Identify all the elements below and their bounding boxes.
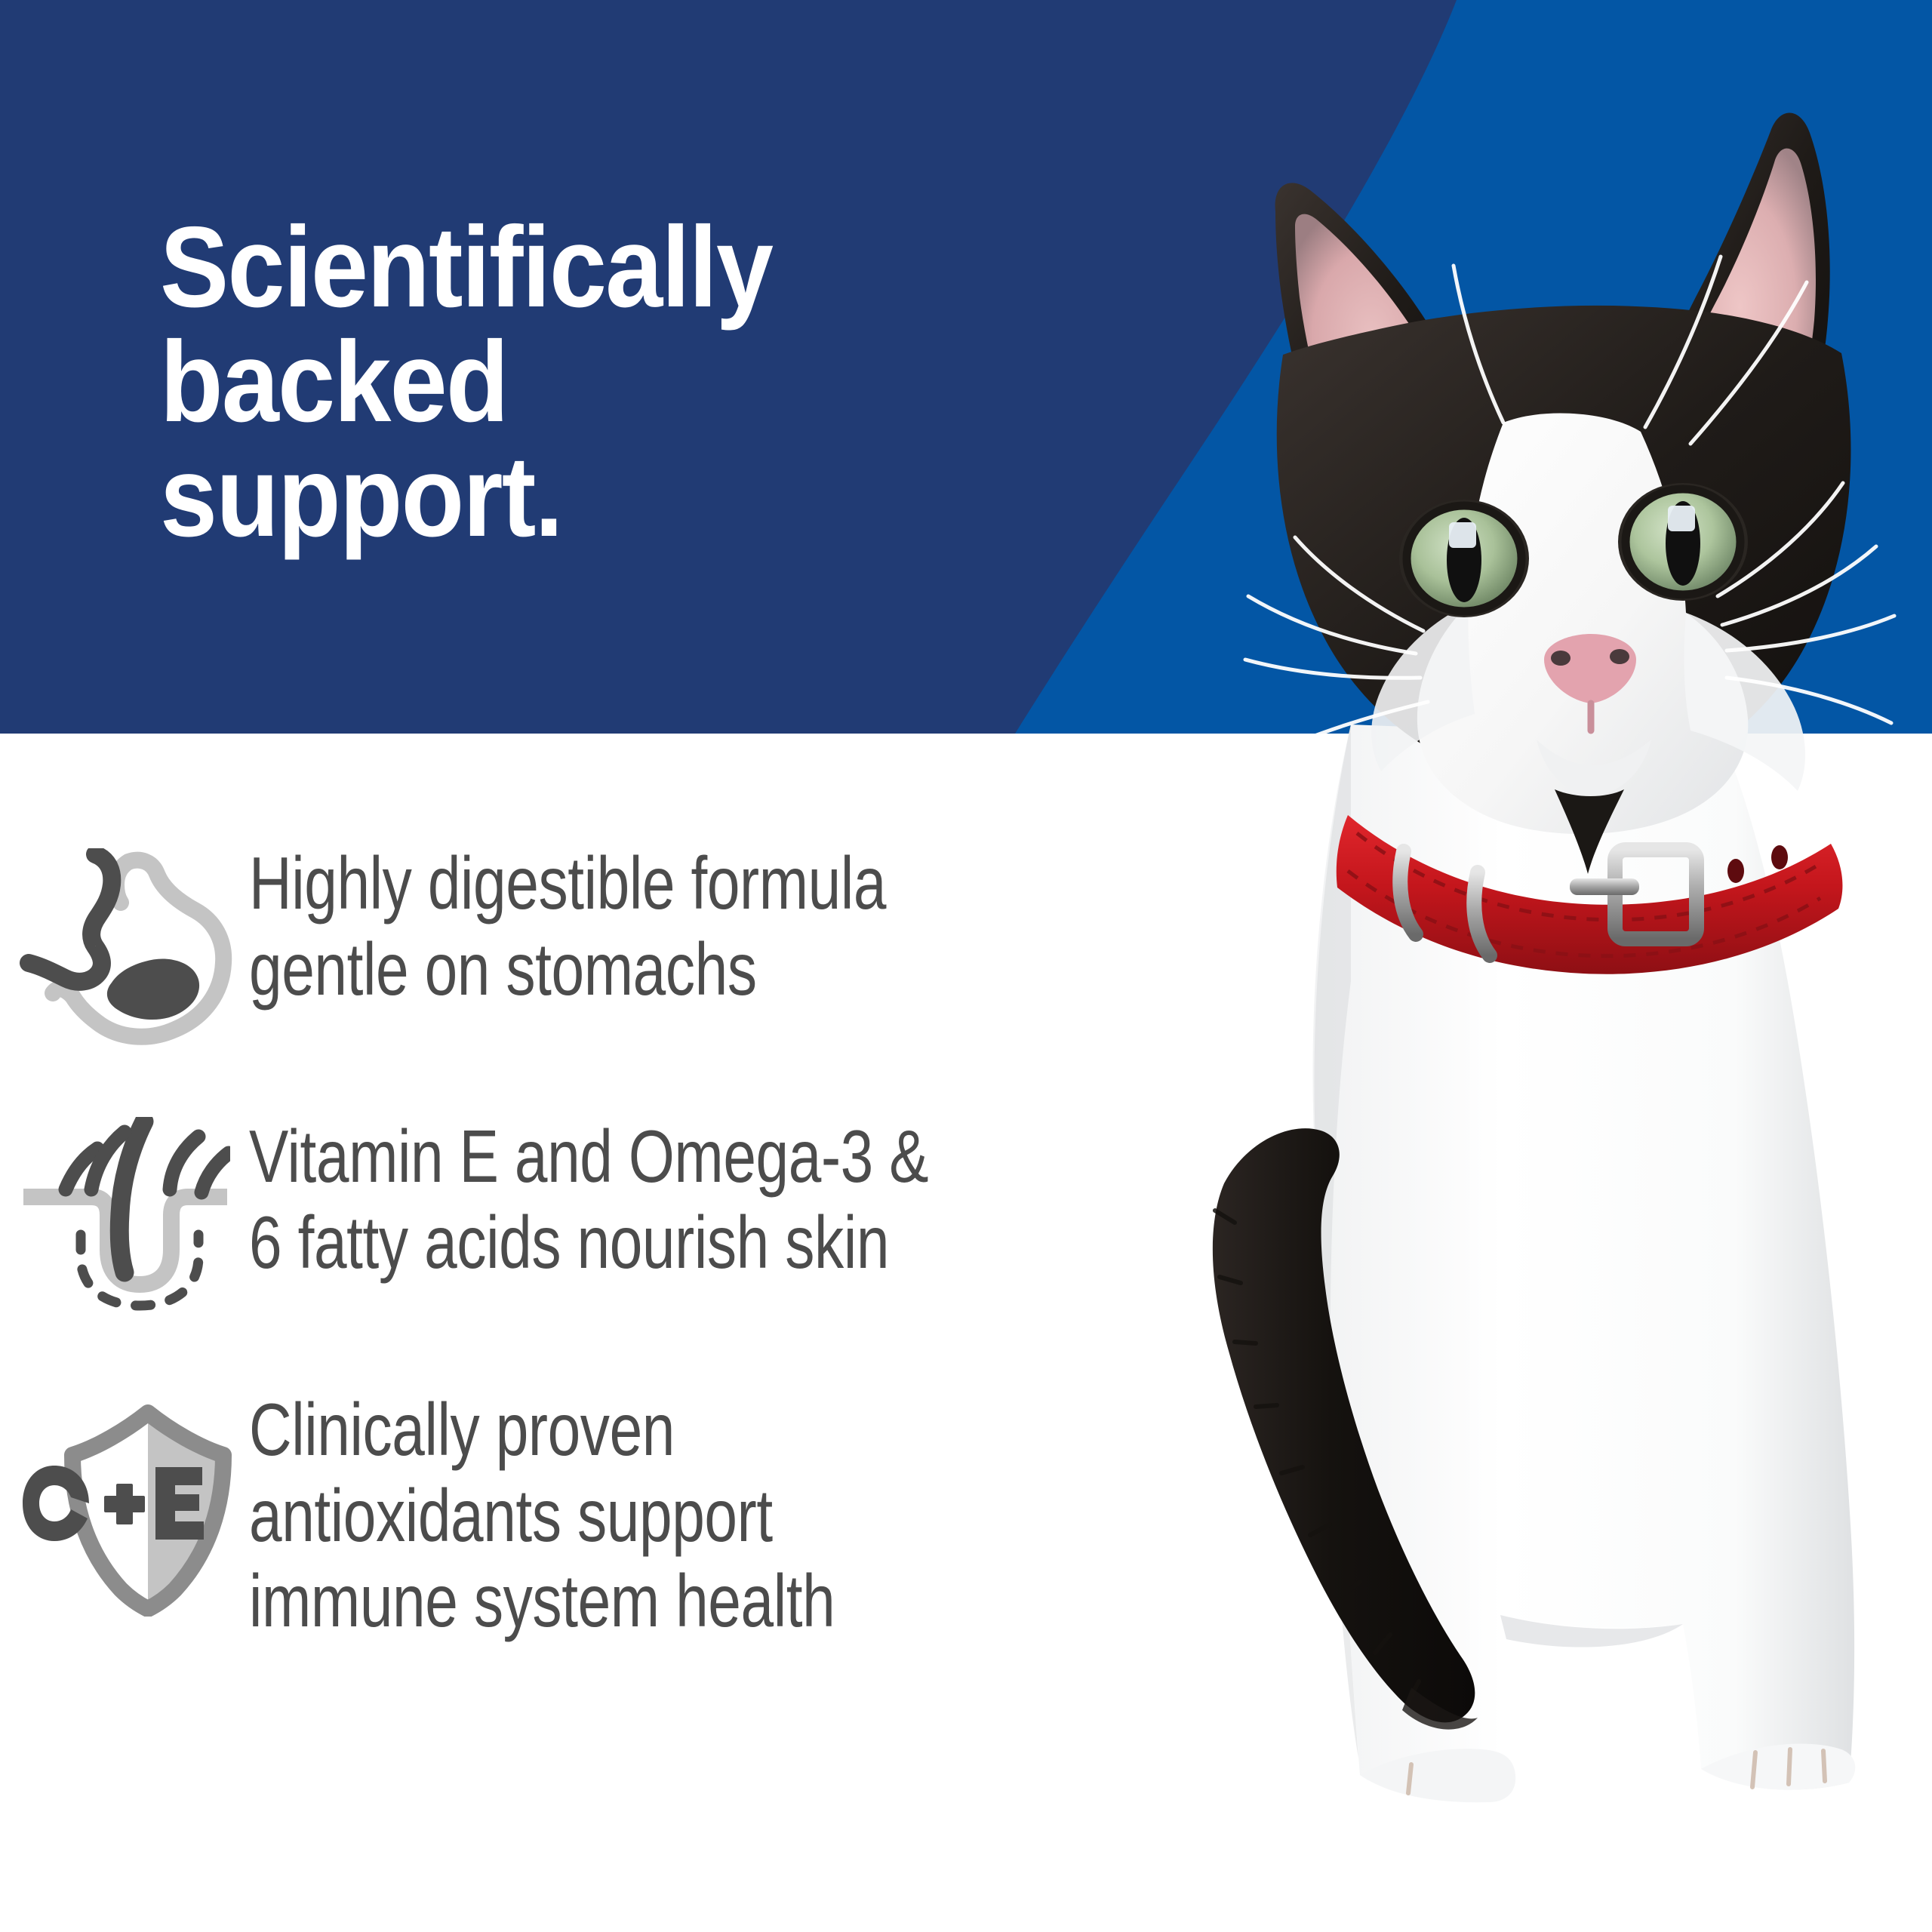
feature-3-line-1: Clinically proven (249, 1387, 1028, 1473)
red-collar (1337, 815, 1843, 974)
kitten-body (1312, 724, 1854, 1802)
shield-label (23, 1466, 204, 1541)
collar-buckle (1400, 850, 1697, 955)
feature-1-line-1: Highly digestible formula (249, 841, 1028, 927)
feature-item-digestion: Highly digestible formula gentle on stom… (0, 838, 1223, 1064)
headline-line-2: backed (160, 325, 975, 439)
stomach-icon (0, 838, 249, 1064)
hair-follicle-icon (0, 1111, 249, 1337)
feature-2-line-1: Vitamin E and Omega-3 & (249, 1114, 1028, 1200)
feature-text-digestion: Highly digestible formula gentle on stom… (249, 838, 1028, 1012)
feature-2-line-2: 6 fatty acids nourish skin (249, 1200, 1028, 1286)
feature-1-line-2: gentle on stomachs (249, 927, 1028, 1013)
page-title: Scientifically backed support. (160, 210, 975, 554)
kitten-paws (1360, 1743, 1855, 1802)
headline-line-1: Scientifically (160, 210, 975, 325)
feature-text-immune: Clinically proven antioxidants support i… (249, 1384, 1028, 1644)
shield-c-plus-e-icon (0, 1384, 249, 1611)
promo-canvas: Scientifically backed support. (0, 0, 1932, 1932)
feature-list: Highly digestible formula gentle on stom… (0, 838, 1223, 1691)
feature-3-line-2: antioxidants support (249, 1473, 1028, 1559)
feature-text-skin-coat: Vitamin E and Omega-3 & 6 fatty acids no… (249, 1111, 1028, 1285)
headline-line-3: support. (160, 439, 975, 554)
feature-item-immune: Clinically proven antioxidants support i… (0, 1384, 1223, 1644)
kitten-tail (1213, 1128, 1478, 1729)
feature-item-skin-coat: Vitamin E and Omega-3 & 6 fatty acids no… (0, 1111, 1223, 1337)
feature-3-line-3: immune system health (249, 1558, 1028, 1644)
